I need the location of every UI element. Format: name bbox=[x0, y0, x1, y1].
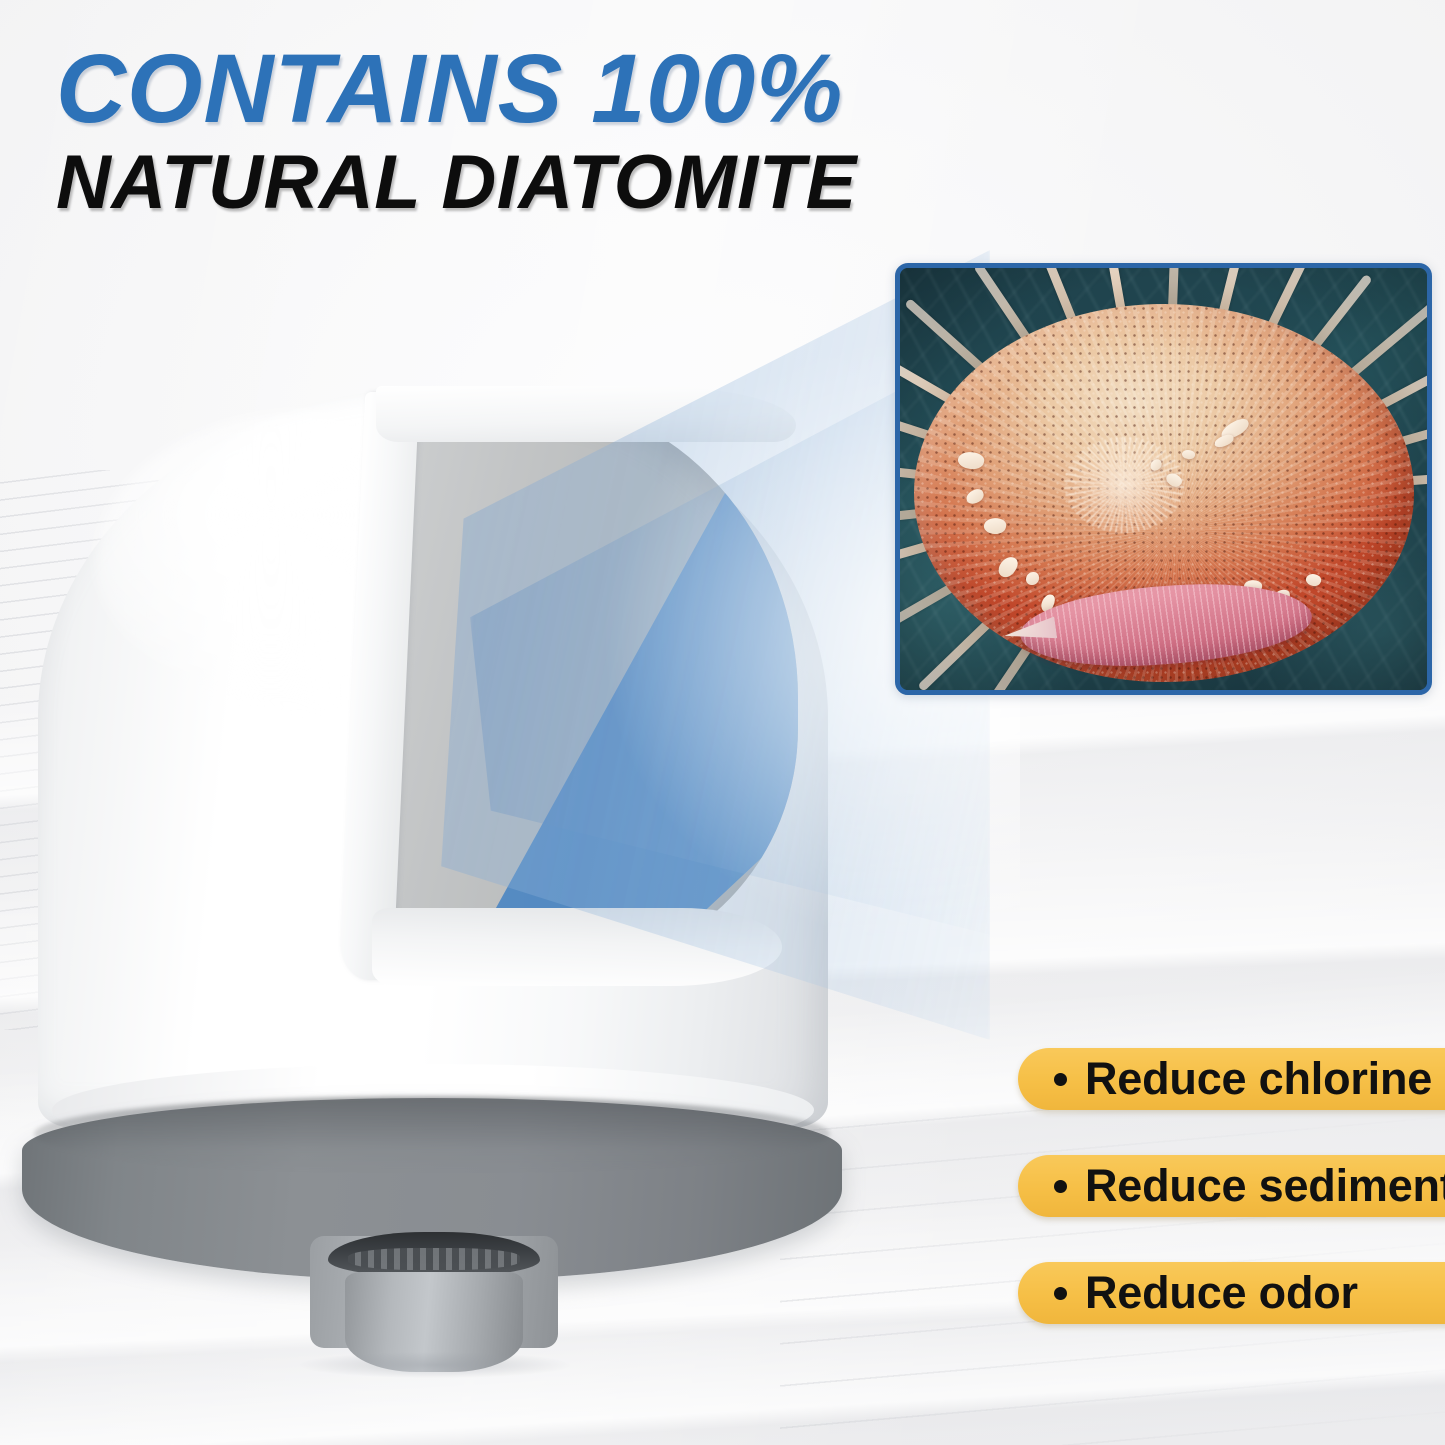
bullet-icon bbox=[1054, 1180, 1067, 1193]
filter-base-collar-shadow bbox=[34, 1096, 830, 1172]
filter-cartridge-illustration bbox=[0, 0, 900, 1445]
filter-outlet-ridges bbox=[348, 1248, 520, 1270]
diatom-micrograph-image bbox=[900, 268, 1427, 690]
benefit-label-2: Reduce sediment bbox=[1085, 1160, 1445, 1212]
diatom-micrograph-inset bbox=[895, 263, 1432, 695]
diatom-spine bbox=[1168, 263, 1181, 310]
benefit-pill-2: Reduce sediment bbox=[1018, 1155, 1445, 1217]
bullet-icon bbox=[1054, 1073, 1067, 1086]
diatom-surface-deposit bbox=[1164, 470, 1184, 489]
product-feature-graphic: CONTAINS 100% NATURAL DIATOMITE bbox=[0, 0, 1445, 1445]
filter-drop-shadow bbox=[300, 1352, 570, 1378]
diatom-surface-deposit bbox=[996, 553, 1021, 580]
diatom-surface-deposit bbox=[964, 487, 985, 505]
diatom-surface-deposit bbox=[983, 517, 1007, 536]
benefit-pill-3: Reduce odor bbox=[1018, 1262, 1445, 1324]
bullet-icon bbox=[1054, 1287, 1067, 1300]
diatom-surface-deposit bbox=[1026, 572, 1039, 585]
diatom-surface-deposit bbox=[1213, 433, 1235, 449]
benefit-label-3: Reduce odor bbox=[1085, 1267, 1358, 1319]
benefit-label-1: Reduce chlorine bbox=[1085, 1053, 1432, 1105]
diatom-surface-deposit bbox=[1148, 458, 1163, 473]
benefit-pill-1: Reduce chlorine bbox=[1018, 1048, 1445, 1110]
diatom-surface-deposit bbox=[1181, 449, 1196, 461]
diatom-surface-deposit bbox=[957, 449, 986, 471]
